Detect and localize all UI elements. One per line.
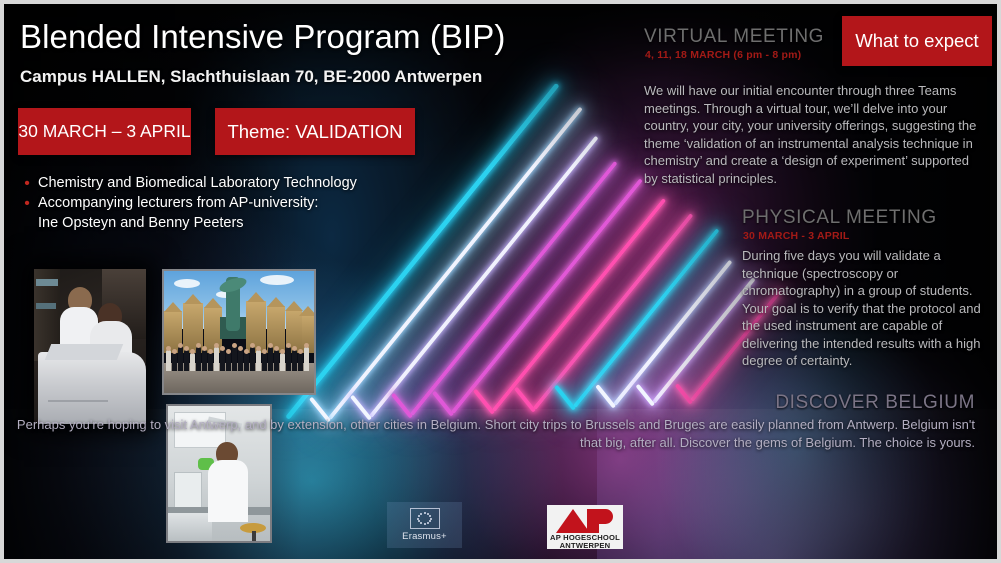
- section-dates-virtual-meeting: 4, 11, 18 MARCH (6 pm - 8 pm): [645, 49, 801, 61]
- bullet-label: Accompanying lecturers from AP-universit…: [38, 194, 318, 213]
- list-item: • Accompanying lecturers from AP-univers…: [16, 194, 416, 213]
- photo-antwerp-grote-markt-group: [162, 269, 316, 395]
- crowd-person: [226, 353, 231, 371]
- crowd-person: [280, 353, 285, 371]
- badge-dates: 30 MARCH – 3 APRIL: [18, 108, 191, 155]
- erasmus-label: Erasmus+: [402, 531, 447, 542]
- eu-star-icon: [429, 515, 431, 517]
- bullet-dot-icon: •: [16, 174, 38, 193]
- bullet-label: Chemistry and Biomedical Laboratory Tech…: [38, 174, 357, 193]
- section-heading-discover-belgium: DISCOVER BELGIUM: [4, 392, 990, 414]
- crowd-person: [244, 353, 249, 371]
- crowd-person: [178, 347, 183, 371]
- crowd-person: [166, 350, 171, 371]
- bullet-dot-icon: •: [16, 194, 38, 213]
- eu-star-icon: [420, 513, 422, 515]
- crowd-person: [190, 353, 195, 371]
- eu-star-icon: [424, 512, 426, 514]
- crowd-person: [250, 347, 255, 371]
- eu-star-icon: [418, 515, 420, 517]
- badge-theme: Theme: VALIDATION: [215, 108, 415, 155]
- crowd-person: [196, 347, 201, 371]
- crowd-person: [208, 353, 213, 371]
- ap-hogeschool-logo: AP HOGESCHOOL ANTWERPEN: [547, 505, 623, 549]
- crowd-person: [220, 350, 225, 371]
- section-body-discover-belgium: Perhaps you're hoping to visit Antwerp, …: [4, 416, 990, 451]
- crowd-person: [184, 350, 189, 371]
- eu-star-icon: [427, 522, 429, 524]
- section-body-physical-meeting: During five days you will validate a tec…: [742, 247, 990, 370]
- crowd-person: [304, 347, 309, 371]
- crowd-person: [298, 353, 303, 371]
- page-title: Blended Intensive Program (BIP): [20, 18, 506, 56]
- bullet-continuation: Ine Opsteyn and Benny Peeters: [38, 214, 416, 233]
- what-to-expect-badge: What to expect: [842, 16, 992, 66]
- eu-star-icon: [417, 518, 419, 520]
- campus-address: Campus HALLEN, Slachthuislaan 70, BE-200…: [20, 67, 482, 87]
- crowd-person: [256, 350, 261, 371]
- crowd-person: [172, 353, 177, 371]
- eu-star-icon: [430, 518, 432, 520]
- crowd-person: [286, 347, 291, 371]
- ap-logo-line2: ANTWERPEN: [547, 541, 623, 549]
- crowd-person: [238, 350, 243, 371]
- bullet-list: • Chemistry and Biomedical Laboratory Te…: [16, 174, 416, 233]
- crowd-person: [268, 347, 273, 371]
- section-heading-physical-meeting: PHYSICAL MEETING: [742, 207, 937, 229]
- list-item: • Chemistry and Biomedical Laboratory Te…: [16, 174, 416, 193]
- eu-star-icon: [420, 522, 422, 524]
- erasmus-plus-logo: Erasmus+: [387, 502, 462, 548]
- eu-flag-icon: [410, 508, 440, 529]
- eu-star-icon: [429, 520, 431, 522]
- crowd-person: [262, 353, 267, 371]
- ap-monogram-icon: [556, 509, 614, 533]
- crowd-person: [232, 347, 237, 371]
- section-body-virtual-meeting: We will have our initial encounter throu…: [644, 82, 984, 187]
- section-heading-virtual-meeting: VIRTUAL MEETING: [644, 26, 824, 48]
- crowd-person: [274, 350, 279, 371]
- crowd-person: [202, 350, 207, 371]
- bip-promo-slide: Blended Intensive Program (BIP) Campus H…: [0, 0, 1001, 563]
- crowd-person: [214, 347, 219, 371]
- crowd-person: [292, 350, 297, 371]
- section-dates-physical-meeting: 30 MARCH - 3 APRIL: [743, 230, 849, 242]
- eu-star-icon: [424, 523, 426, 525]
